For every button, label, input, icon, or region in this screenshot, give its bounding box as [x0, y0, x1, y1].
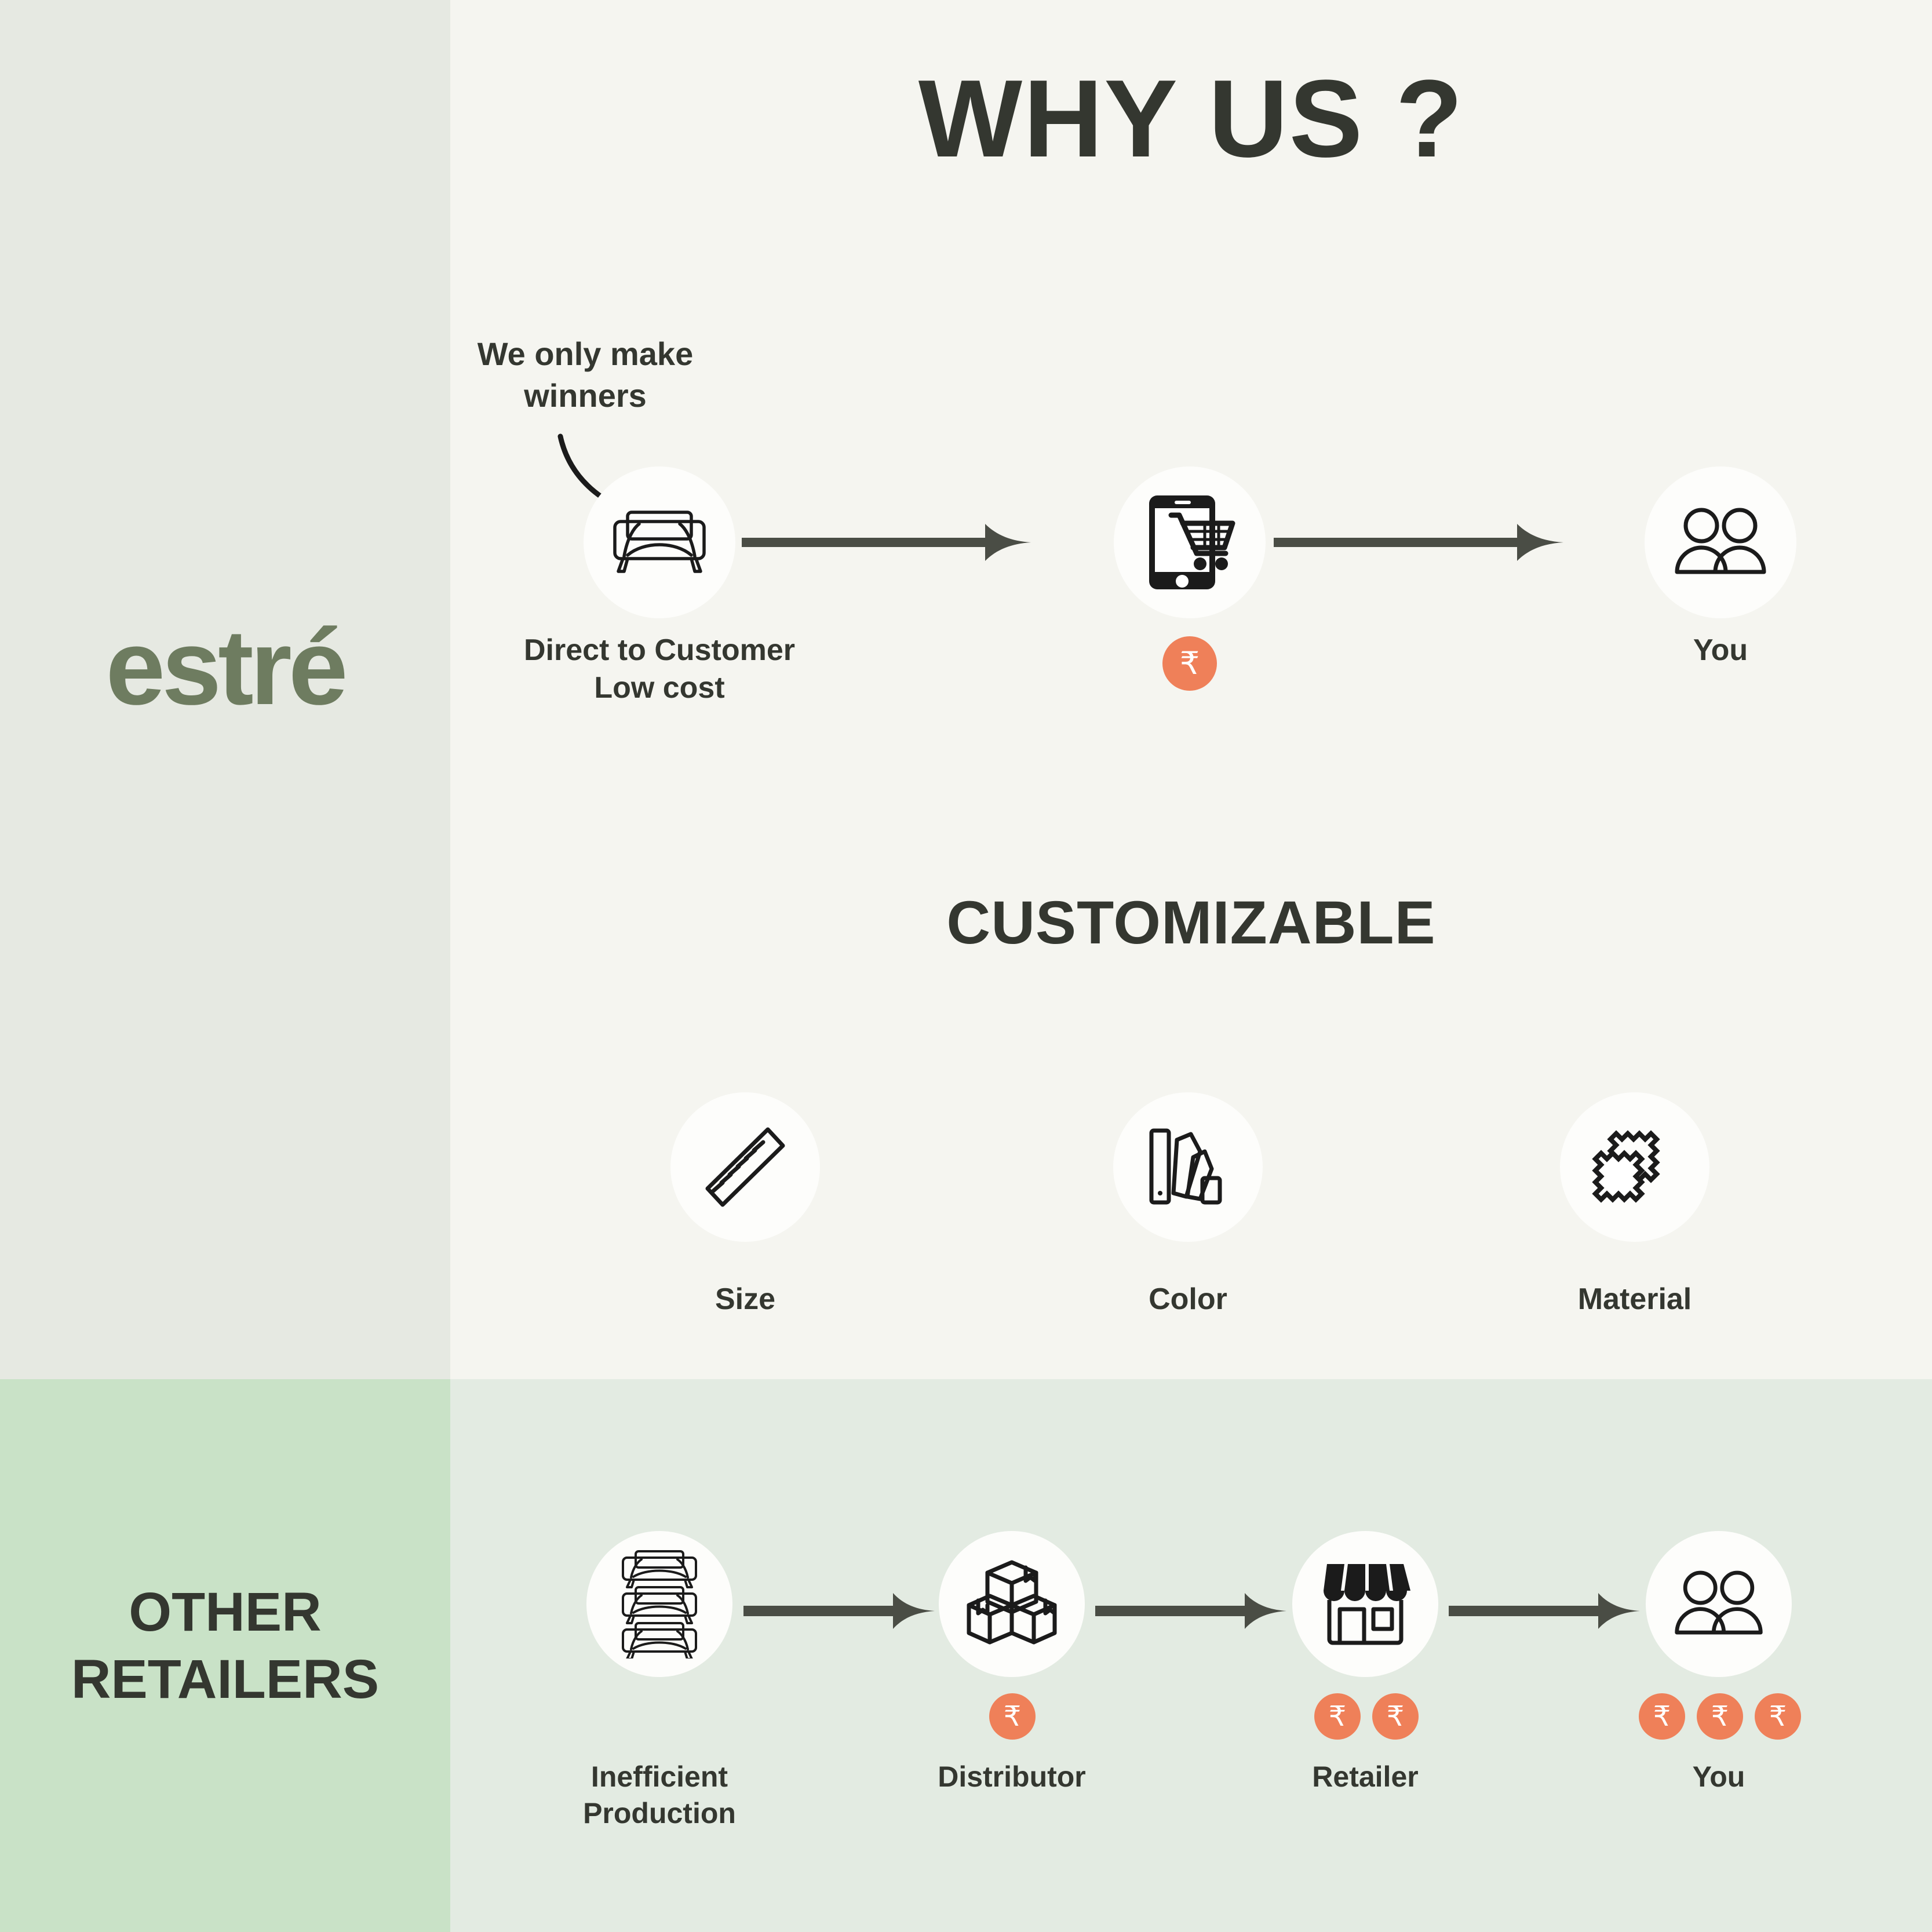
node-label-size: Size: [612, 1281, 878, 1318]
rupee-symbol: ₹: [1769, 1703, 1787, 1730]
node-label-text: Material: [1501, 1281, 1768, 1318]
node-label-line-1: Distributor: [867, 1759, 1157, 1795]
retailer-arrow-1: [743, 1591, 935, 1631]
two-people-icon: [1672, 1570, 1765, 1638]
rupee-coin-distributor-1: ₹: [989, 1693, 1036, 1740]
rupee-coin-you-3: ₹: [1755, 1693, 1801, 1740]
rupee-coin-you-2: ₹: [1697, 1693, 1743, 1740]
node-label-material: Material: [1501, 1281, 1768, 1318]
section-title-customizable: CUSTOMIZABLE: [450, 892, 1932, 953]
rupee-symbol: ₹: [1711, 1703, 1729, 1730]
node-label-distributor: Distributor: [867, 1759, 1157, 1795]
retailer-arrow-3: [1449, 1591, 1640, 1631]
two-people-icon: [1672, 507, 1769, 578]
node-label-color: Color: [1055, 1281, 1321, 1318]
mobile-shopping-cart-icon: [1138, 493, 1242, 592]
annotation-we-only-make-winners: We only make winners: [423, 333, 748, 416]
node-label-direct-to-customer: Direct to Customer Low cost: [486, 632, 833, 707]
color-swatch-icon: [1144, 1124, 1231, 1211]
node-label-inefficient-production: Inefficient Production: [515, 1759, 804, 1831]
node-circle-distributor[interactable]: [939, 1531, 1085, 1677]
node-label-line-2: Production: [515, 1795, 804, 1832]
fabric-swatch-icon: [1591, 1123, 1679, 1211]
other-retailers-line-2: RETAILERS: [0, 1646, 450, 1714]
node-label-retailer: Retailer: [1220, 1759, 1510, 1795]
node-label-you-bottom: You: [1574, 1759, 1864, 1795]
sofa-icon: [610, 508, 709, 577]
node-circle-color[interactable]: [1113, 1092, 1263, 1242]
node-label-line-1: Inefficient: [515, 1759, 804, 1795]
node-circle-material[interactable]: [1560, 1092, 1709, 1242]
rupee-coin-you-1: ₹: [1639, 1693, 1685, 1740]
section-title-other-retailers: OTHER RETAILERS: [0, 1579, 450, 1714]
flow-arrow-1: [742, 520, 1031, 564]
rupee-coin-estre-1: ₹: [1162, 636, 1217, 691]
node-label-text: Size: [612, 1281, 878, 1318]
node-label-text: Color: [1055, 1281, 1321, 1318]
rupee-coin-retailer-1: ₹: [1314, 1693, 1361, 1740]
boxes-icon: [965, 1558, 1058, 1650]
node-circle-retailer[interactable]: [1292, 1531, 1438, 1677]
ruler-icon: [702, 1124, 789, 1211]
rupee-symbol: ₹: [1387, 1703, 1405, 1730]
annotation-line-1: We only make: [423, 333, 748, 375]
rupee-coin-retailer-2: ₹: [1372, 1693, 1419, 1740]
annotation-line-2: winners: [423, 375, 748, 417]
stacked-sofas-icon: [616, 1550, 703, 1658]
node-label-you-top: You: [1587, 632, 1854, 669]
node-label-line-1: Direct to Customer: [486, 632, 833, 669]
node-label-line-2: Low cost: [486, 669, 833, 707]
flow-arrow-2: [1274, 520, 1563, 564]
rupee-symbol: ₹: [1653, 1703, 1671, 1730]
node-label-line-1: You: [1587, 632, 1854, 669]
node-circle-sofa[interactable]: [584, 466, 735, 618]
other-retailers-line-1: OTHER: [0, 1579, 450, 1646]
node-circle-you-top[interactable]: [1645, 466, 1796, 618]
rupee-symbol: ₹: [1329, 1703, 1347, 1730]
node-circle-size[interactable]: [670, 1092, 820, 1242]
node-label-line-1: Retailer: [1220, 1759, 1510, 1795]
node-circle-inefficient-production[interactable]: [586, 1531, 732, 1677]
node-circle-you-bottom[interactable]: [1646, 1531, 1792, 1677]
rupee-symbol: ₹: [1004, 1703, 1022, 1730]
storefront-icon: [1320, 1561, 1410, 1647]
retailer-arrow-2: [1095, 1591, 1286, 1631]
page-title: WHY US ?: [450, 64, 1932, 174]
node-circle-mobile-shopping[interactable]: [1114, 466, 1266, 618]
rupee-symbol: ₹: [1180, 648, 1200, 679]
brand-logo: estré: [0, 614, 450, 721]
node-label-line-1: You: [1574, 1759, 1864, 1795]
